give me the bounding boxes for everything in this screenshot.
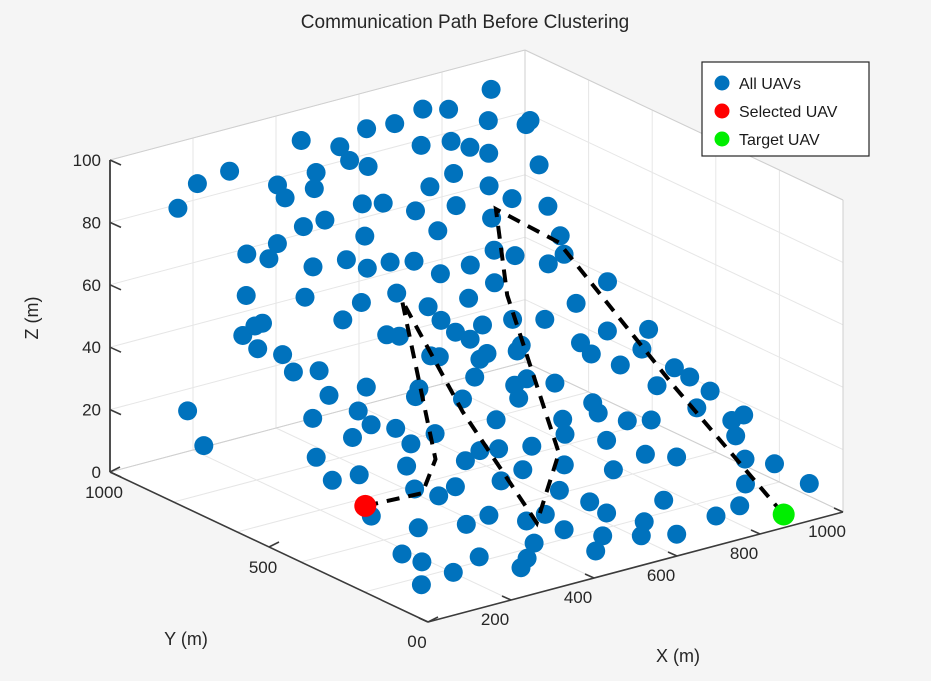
marker-all-uavs-44	[639, 320, 658, 339]
marker-all-uavs-39	[413, 100, 432, 119]
marker-all-uavs-134	[168, 199, 187, 218]
marker-all-uavs-27	[536, 505, 555, 524]
marker-all-uavs-8	[294, 217, 313, 236]
marker-all-uavs-38	[412, 136, 431, 155]
marker-all-uavs-148	[381, 253, 400, 272]
marker-all-uavs-75	[323, 471, 342, 490]
marker-all-uavs-98	[636, 445, 655, 464]
page-title: Communication Path Before Clustering	[301, 12, 629, 33]
legend[interactable]: All UAVsSelected UAVTarget UAV	[702, 62, 869, 156]
marker-all-uavs-6	[273, 345, 292, 364]
marker-all-uavs-111	[597, 431, 616, 450]
scatter-plot-3d: 0200400600800100005001000020406080100 Co…	[0, 0, 931, 681]
marker-all-uavs-133	[188, 174, 207, 193]
marker-all-uavs-18	[393, 545, 412, 564]
marker-all-uavs-169	[337, 250, 356, 269]
marker-all-uavs-157	[734, 406, 753, 425]
marker-all-uavs-15	[397, 457, 416, 476]
y-tick-0: 0	[417, 633, 426, 652]
marker-all-uavs-99	[642, 411, 661, 430]
z-tick-20: 20	[82, 401, 101, 420]
marker-all-uavs-151	[618, 411, 637, 430]
marker-all-uavs-139	[303, 409, 322, 428]
z-axis-label: Z (m)	[22, 297, 42, 340]
marker-all-uavs-90	[482, 80, 501, 99]
marker-all-uavs-72	[409, 518, 428, 537]
marker-all-uavs-60	[358, 259, 377, 278]
marker-all-uavs-10	[307, 163, 326, 182]
marker-all-uavs-89	[479, 111, 498, 130]
marker-all-uavs-152	[667, 448, 686, 467]
marker-all-uavs-67	[310, 361, 329, 380]
marker-all-uavs-103	[248, 339, 267, 358]
marker-all-uavs-91	[521, 111, 540, 130]
marker-all-uavs-49	[730, 496, 749, 515]
marker-all-uavs-127	[800, 474, 819, 493]
marker-all-uavs-115	[456, 451, 475, 470]
marker-all-uavs-17	[457, 515, 476, 534]
y-tick-500: 500	[249, 558, 277, 577]
marker-all-uavs-94	[555, 520, 574, 539]
marker-all-uavs-76	[522, 437, 541, 456]
marker-all-uavs-101	[320, 386, 339, 405]
marker-all-uavs-113	[489, 439, 508, 458]
marker-all-uavs-42	[551, 226, 570, 245]
marker-all-uavs-95	[593, 526, 612, 545]
marker-all-uavs-149	[545, 374, 564, 393]
z-tick-100: 100	[73, 151, 101, 170]
marker-all-uavs-109	[509, 389, 528, 408]
marker-all-uavs-145	[597, 504, 616, 523]
marker-all-uavs-155	[665, 358, 684, 377]
marker-all-uavs-58	[530, 155, 549, 174]
marker-all-uavs-128	[447, 196, 466, 215]
marker-all-uavs-170	[305, 179, 324, 198]
marker-all-uavs-1	[178, 401, 197, 420]
marker-all-uavs-118	[459, 289, 478, 308]
marker-all-uavs-117	[446, 323, 465, 342]
marker-all-uavs-138	[343, 428, 362, 447]
z-tick-40: 40	[82, 338, 101, 357]
marker-all-uavs-0	[194, 436, 213, 455]
marker-all-uavs-82	[419, 297, 438, 316]
marker-all-uavs-35	[431, 264, 450, 283]
marker-all-uavs-84	[485, 273, 504, 292]
marker-all-uavs-102	[284, 363, 303, 382]
marker-all-uavs-159	[512, 558, 531, 577]
marker-all-uavs-168	[405, 252, 424, 271]
marker-all-uavs-12	[307, 448, 326, 467]
marker-selected-uav-0	[354, 495, 376, 517]
marker-all-uavs-144	[550, 481, 569, 500]
marker-all-uavs-106	[377, 325, 396, 344]
marker-all-uavs-132	[220, 162, 239, 181]
marker-all-uavs-61	[355, 227, 374, 246]
marker-all-uavs-7	[268, 234, 287, 253]
marker-all-uavs-40	[460, 138, 479, 157]
marker-all-uavs-105	[333, 310, 352, 329]
marker-all-uavs-57	[538, 197, 557, 216]
legend-marker-target-uav-icon	[715, 132, 730, 147]
marker-all-uavs-65	[237, 286, 256, 305]
marker-all-uavs-130	[442, 132, 461, 151]
marker-target-uav-0	[773, 504, 795, 526]
marker-all-uavs-110	[553, 410, 572, 429]
marker-all-uavs-16	[446, 477, 465, 496]
legend-marker-all-uavs-icon	[715, 76, 730, 91]
marker-all-uavs-122	[611, 356, 630, 375]
figure-canvas: 0200400600800100005001000020406080100 Co…	[0, 0, 931, 681]
marker-all-uavs-37	[420, 177, 439, 196]
marker-all-uavs-64	[237, 245, 256, 264]
marker-all-uavs-87	[480, 176, 499, 195]
marker-all-uavs-158	[525, 534, 544, 553]
marker-all-uavs-92	[479, 506, 498, 525]
x-tick-1000: 1000	[808, 522, 846, 541]
marker-all-uavs-143	[429, 486, 448, 505]
x-tick-800: 800	[730, 544, 758, 563]
marker-all-uavs-141	[315, 211, 334, 230]
marker-all-uavs-52	[604, 460, 623, 479]
marker-all-uavs-68	[357, 378, 376, 397]
z-tick-60: 60	[82, 276, 101, 295]
marker-all-uavs-19	[412, 575, 431, 594]
y-axis-label: Y (m)	[164, 629, 208, 649]
marker-all-uavs-104	[296, 288, 315, 307]
marker-all-uavs-142	[304, 257, 323, 276]
marker-all-uavs-26	[513, 460, 532, 479]
marker-all-uavs-171	[539, 254, 558, 273]
marker-all-uavs-66	[245, 317, 264, 336]
marker-all-uavs-120	[535, 310, 554, 329]
z-tick-80: 80	[82, 213, 101, 232]
marker-all-uavs-163	[374, 194, 393, 213]
marker-all-uavs-162	[406, 201, 425, 220]
marker-all-uavs-131	[439, 100, 458, 119]
marker-all-uavs-125	[726, 426, 745, 445]
marker-all-uavs-161	[444, 563, 463, 582]
marker-all-uavs-164	[385, 114, 404, 133]
marker-all-uavs-13	[350, 465, 369, 484]
marker-all-uavs-41	[503, 189, 522, 208]
legend-label-1[interactable]: Selected UAV	[739, 104, 838, 121]
marker-all-uavs-55	[567, 294, 586, 313]
marker-all-uavs-51	[654, 491, 673, 510]
marker-all-uavs-97	[667, 525, 686, 544]
marker-all-uavs-123	[648, 376, 667, 395]
marker-all-uavs-150	[583, 393, 602, 412]
marker-all-uavs-108	[465, 368, 484, 387]
legend-marker-selected-uav-icon	[715, 104, 730, 119]
marker-all-uavs-14	[386, 419, 405, 438]
x-tick-600: 600	[647, 566, 675, 585]
marker-all-uavs-165	[506, 246, 525, 265]
marker-all-uavs-135	[292, 131, 311, 150]
marker-all-uavs-153	[598, 322, 617, 341]
marker-all-uavs-62	[353, 194, 372, 213]
marker-all-uavs-147	[453, 390, 472, 409]
marker-all-uavs-146	[635, 512, 654, 531]
marker-all-uavs-137	[357, 119, 376, 138]
z-tick-0: 0	[92, 463, 101, 482]
marker-all-uavs-156	[701, 382, 720, 401]
y-tick-1000: 1000	[85, 483, 123, 502]
marker-all-uavs-83	[387, 284, 406, 303]
x-tick-400: 400	[564, 588, 592, 607]
marker-all-uavs-112	[487, 410, 506, 429]
legend-label-0[interactable]: All UAVs	[739, 76, 801, 93]
legend-label-2[interactable]: Target UAV	[739, 132, 820, 149]
x-tick-200: 200	[481, 610, 509, 629]
marker-all-uavs-63	[359, 157, 378, 176]
marker-all-uavs-129	[444, 164, 463, 183]
marker-all-uavs-70	[401, 434, 420, 453]
marker-all-uavs-88	[479, 144, 498, 163]
marker-all-uavs-20	[352, 293, 371, 312]
marker-all-uavs-50	[707, 507, 726, 526]
marker-all-uavs-126	[765, 454, 784, 473]
marker-all-uavs-43	[598, 272, 617, 291]
marker-all-uavs-136	[330, 137, 349, 156]
marker-all-uavs-160	[470, 547, 489, 566]
marker-all-uavs-100	[362, 415, 381, 434]
marker-all-uavs-140	[276, 188, 295, 207]
marker-all-uavs-116	[478, 344, 497, 363]
x-tick-0: 0	[407, 632, 416, 651]
marker-all-uavs-119	[461, 256, 480, 275]
marker-all-uavs-73	[412, 552, 431, 571]
marker-all-uavs-30	[580, 492, 599, 511]
marker-all-uavs-77	[555, 455, 574, 474]
marker-all-uavs-36	[428, 221, 447, 240]
x-axis-label: X (m)	[656, 646, 700, 666]
marker-all-uavs-121	[571, 333, 590, 352]
